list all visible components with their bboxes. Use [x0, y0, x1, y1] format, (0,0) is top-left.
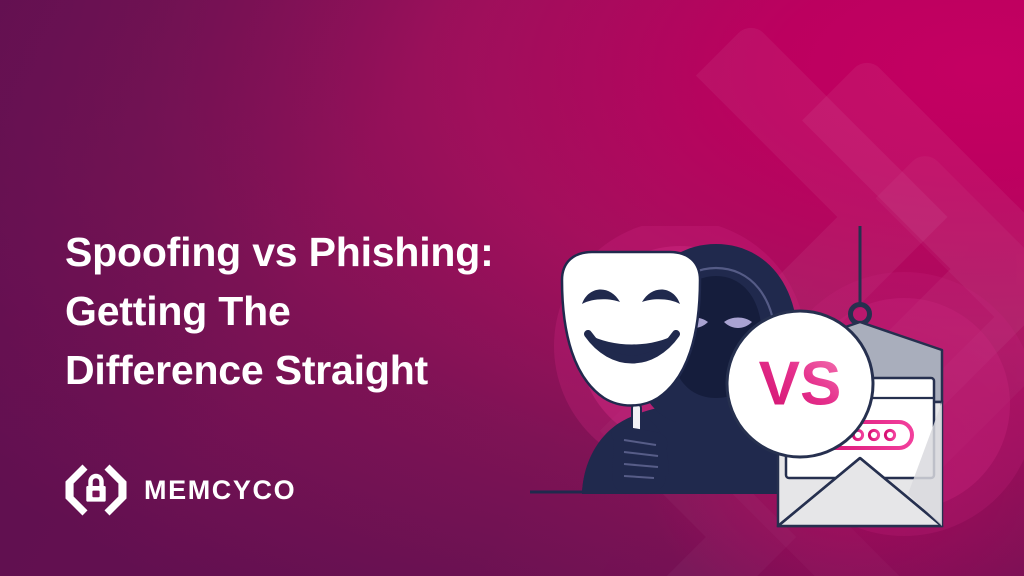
page-title-line-2: Getting The — [65, 282, 585, 341]
page-title-line-1: Spoofing vs Phishing: — [65, 223, 585, 282]
banner-canvas: Spoofing vs Phishing: Getting The Differ… — [0, 0, 1024, 576]
versus-badge: VS — [727, 311, 873, 457]
hero-illustration: VS — [520, 226, 1024, 576]
hand — [611, 426, 667, 494]
brand-wordmark: MEMCYCO — [144, 475, 296, 506]
padlock-brackets-logo-icon — [64, 459, 128, 521]
versus-label: VS — [759, 350, 842, 419]
brand-logo[interactable]: MEMCYCO — [64, 459, 296, 521]
page-title-line-3: Difference Straight — [65, 341, 585, 400]
page-title: Spoofing vs Phishing: Getting The Differ… — [65, 223, 585, 400]
